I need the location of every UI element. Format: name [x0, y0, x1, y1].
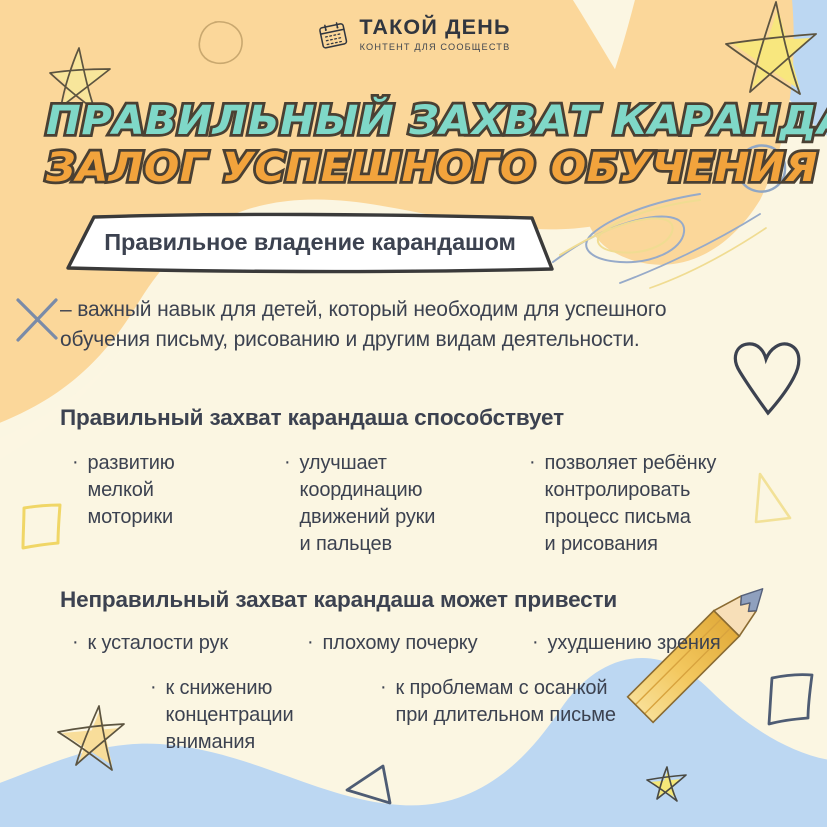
intro-paragraph: – важный навык для детей, который необхо…	[60, 295, 760, 355]
negative-bullet-row-1: · к усталости рук · плохому почерку · ух…	[72, 630, 802, 657]
bullet-dot-icon: ·	[532, 629, 539, 656]
list-item: · позволяет ребёнку контролировать проце…	[529, 450, 779, 558]
bullet-dot-icon: ·	[307, 629, 314, 656]
brand-logo-text: ТАКОЙ ДЕНЬ КОНТЕНТ ДЛЯ СООБЩЕСТВ	[359, 16, 510, 52]
list-item-label: развитию мелкой моторики	[88, 450, 175, 531]
bullet-dot-icon: ·	[150, 674, 157, 701]
brand-name: ТАКОЙ ДЕНЬ	[359, 16, 510, 39]
list-item: · к снижению концентрации внимания	[150, 675, 380, 756]
list-item: · к проблемам с осанкой при длительном п…	[380, 675, 700, 756]
square-doodle-left	[23, 505, 60, 548]
list-item: · плохому почерку	[307, 630, 532, 657]
scribble-loops	[553, 194, 766, 288]
bullet-dot-icon: ·	[529, 449, 536, 476]
subtitle-banner-label: Правильное владение карандашом	[64, 212, 556, 274]
positive-bullet-columns: · развитию мелкой моторики · улучшает ко…	[72, 450, 792, 558]
blue-wave-bottom-left	[0, 778, 110, 827]
bullet-dot-icon: ·	[380, 674, 387, 701]
list-item-label: плохому почерку	[323, 630, 478, 657]
list-item-label: улучшает координацию движений руки и пал…	[300, 450, 436, 558]
list-item-label: к снижению концентрации внимания	[166, 675, 294, 756]
star-doodle-bottom-right	[647, 767, 686, 801]
list-item: · развитию мелкой моторики	[72, 450, 284, 558]
page-title-line-1: ПРАВИЛЬНЫЙ ЗАХВАТ КАРАНДАША —	[46, 98, 816, 144]
negative-bullet-row-2: · к снижению концентрации внимания · к п…	[150, 675, 810, 756]
list-item: · улучшает координацию движений руки и п…	[284, 450, 529, 558]
bullet-dot-icon: ·	[72, 629, 79, 656]
list-item: · к усталости рук	[72, 630, 307, 657]
list-item-label: к усталости рук	[88, 630, 228, 657]
brand-logo: ТАКОЙ ДЕНЬ КОНТЕНТ ДЛЯ СООБЩЕСТВ	[0, 16, 827, 52]
infographic-poster: ТАКОЙ ДЕНЬ КОНТЕНТ ДЛЯ СООБЩЕСТВ ПРАВИЛЬ…	[0, 0, 827, 827]
subtitle-banner: Правильное владение карандашом	[64, 212, 556, 274]
list-item-label: позволяет ребёнку контролировать процесс…	[545, 450, 717, 558]
tear-off-calendar-icon	[316, 18, 350, 52]
section-heading-negative: Неправильный захват карандаша может прив…	[60, 587, 617, 613]
bullet-dot-icon: ·	[284, 449, 291, 476]
triangle-doodle-bottom	[347, 766, 390, 803]
list-item-label: к проблемам с осанкой при длительном пис…	[396, 675, 616, 729]
list-item-label: ухудшению зрения	[548, 630, 721, 657]
star-doodle-bottom-left	[58, 706, 124, 770]
page-title: ПРАВИЛЬНЫЙ ЗАХВАТ КАРАНДАША — ЗАЛОГ УСПЕ…	[46, 98, 786, 191]
bullet-dot-icon: ·	[72, 449, 79, 476]
x-mark-doodle	[18, 300, 56, 340]
list-item: · ухудшению зрения	[532, 630, 782, 657]
section-heading-positive: Правильный захват карандаша способствует	[60, 405, 564, 431]
brand-tagline: КОНТЕНТ ДЛЯ СООБЩЕСТВ	[360, 42, 511, 52]
page-title-line-2: ЗАЛОГ УСПЕШНОГО ОБУЧЕНИЯ	[46, 145, 816, 191]
